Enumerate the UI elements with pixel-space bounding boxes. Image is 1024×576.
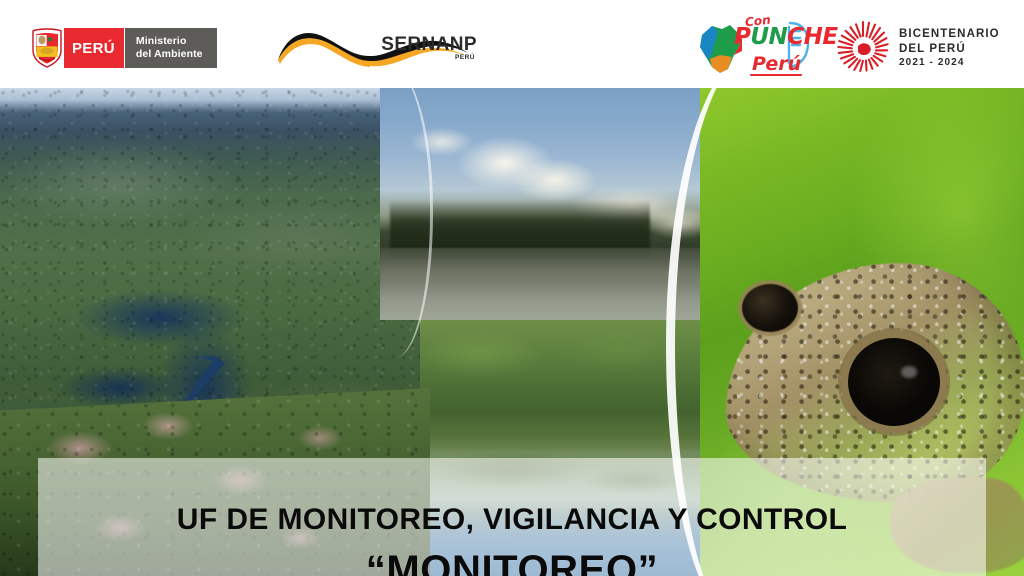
bicentenario-line-3: 2021 - 2024 xyxy=(899,56,1000,70)
peru-coat-of-arms-icon xyxy=(30,28,64,68)
bicentenario-line-2: DEL PERÚ xyxy=(899,42,1000,57)
minam-line-2: del Ambiente xyxy=(136,48,203,61)
river-water-surface xyxy=(380,248,710,320)
title-overlay-band: UF DE MONITOREO, VIGILANCIA Y CONTROL “M… xyxy=(38,458,986,576)
minam-ministry-label: Ministerio del Ambiente xyxy=(124,28,217,68)
sernanp-subtitle: PERÚ xyxy=(455,54,475,61)
slide-title-line-2: “MONITOREO” xyxy=(366,548,659,576)
punche-line-2: PUNCHE xyxy=(734,24,838,50)
photo-collage: UF DE MONITOREO, VIGILANCIA Y CONTROL “M… xyxy=(0,88,1024,576)
punche-char-n: N xyxy=(769,24,788,50)
punche-char-che: CHE xyxy=(787,24,837,50)
presentation-slide: PERÚ Ministerio del Ambiente SERNANP PER… xyxy=(0,0,1024,576)
photo-river-sunset-clouds xyxy=(380,88,710,320)
minam-country-label: PERÚ xyxy=(64,28,124,68)
logo-bicentenario: BICENTENARIO DEL PERÚ 2021 - 2024 xyxy=(836,20,1001,74)
punche-underline xyxy=(750,74,802,76)
punche-line-3: Perú xyxy=(752,53,801,75)
punche-char-u: U xyxy=(750,24,768,50)
punche-char-p: P xyxy=(734,24,750,50)
logo-con-punche-peru: Con PUNCHE Perú xyxy=(692,11,820,81)
sernanp-wordmark: SERNANP xyxy=(381,34,477,56)
sernanp-wave-icon xyxy=(272,59,477,76)
bicentenario-line-1: BICENTENARIO xyxy=(899,27,1000,42)
frog-eye-near xyxy=(848,338,940,426)
bicentenario-text: BICENTENARIO DEL PERÚ 2021 - 2024 xyxy=(899,27,1000,70)
minam-line-1: Ministerio xyxy=(136,35,203,48)
bicentenario-burst-icon xyxy=(836,20,890,74)
slide-title-line-1: UF DE MONITOREO, VIGILANCIA Y CONTROL xyxy=(177,503,847,536)
logo-sernanp: SERNANP PERÚ xyxy=(272,22,477,72)
logo-minam: PERÚ Ministerio del Ambiente xyxy=(30,28,217,68)
header-logo-bar: PERÚ Ministerio del Ambiente SERNANP PER… xyxy=(0,0,1024,88)
frog-eye-far xyxy=(742,284,798,332)
